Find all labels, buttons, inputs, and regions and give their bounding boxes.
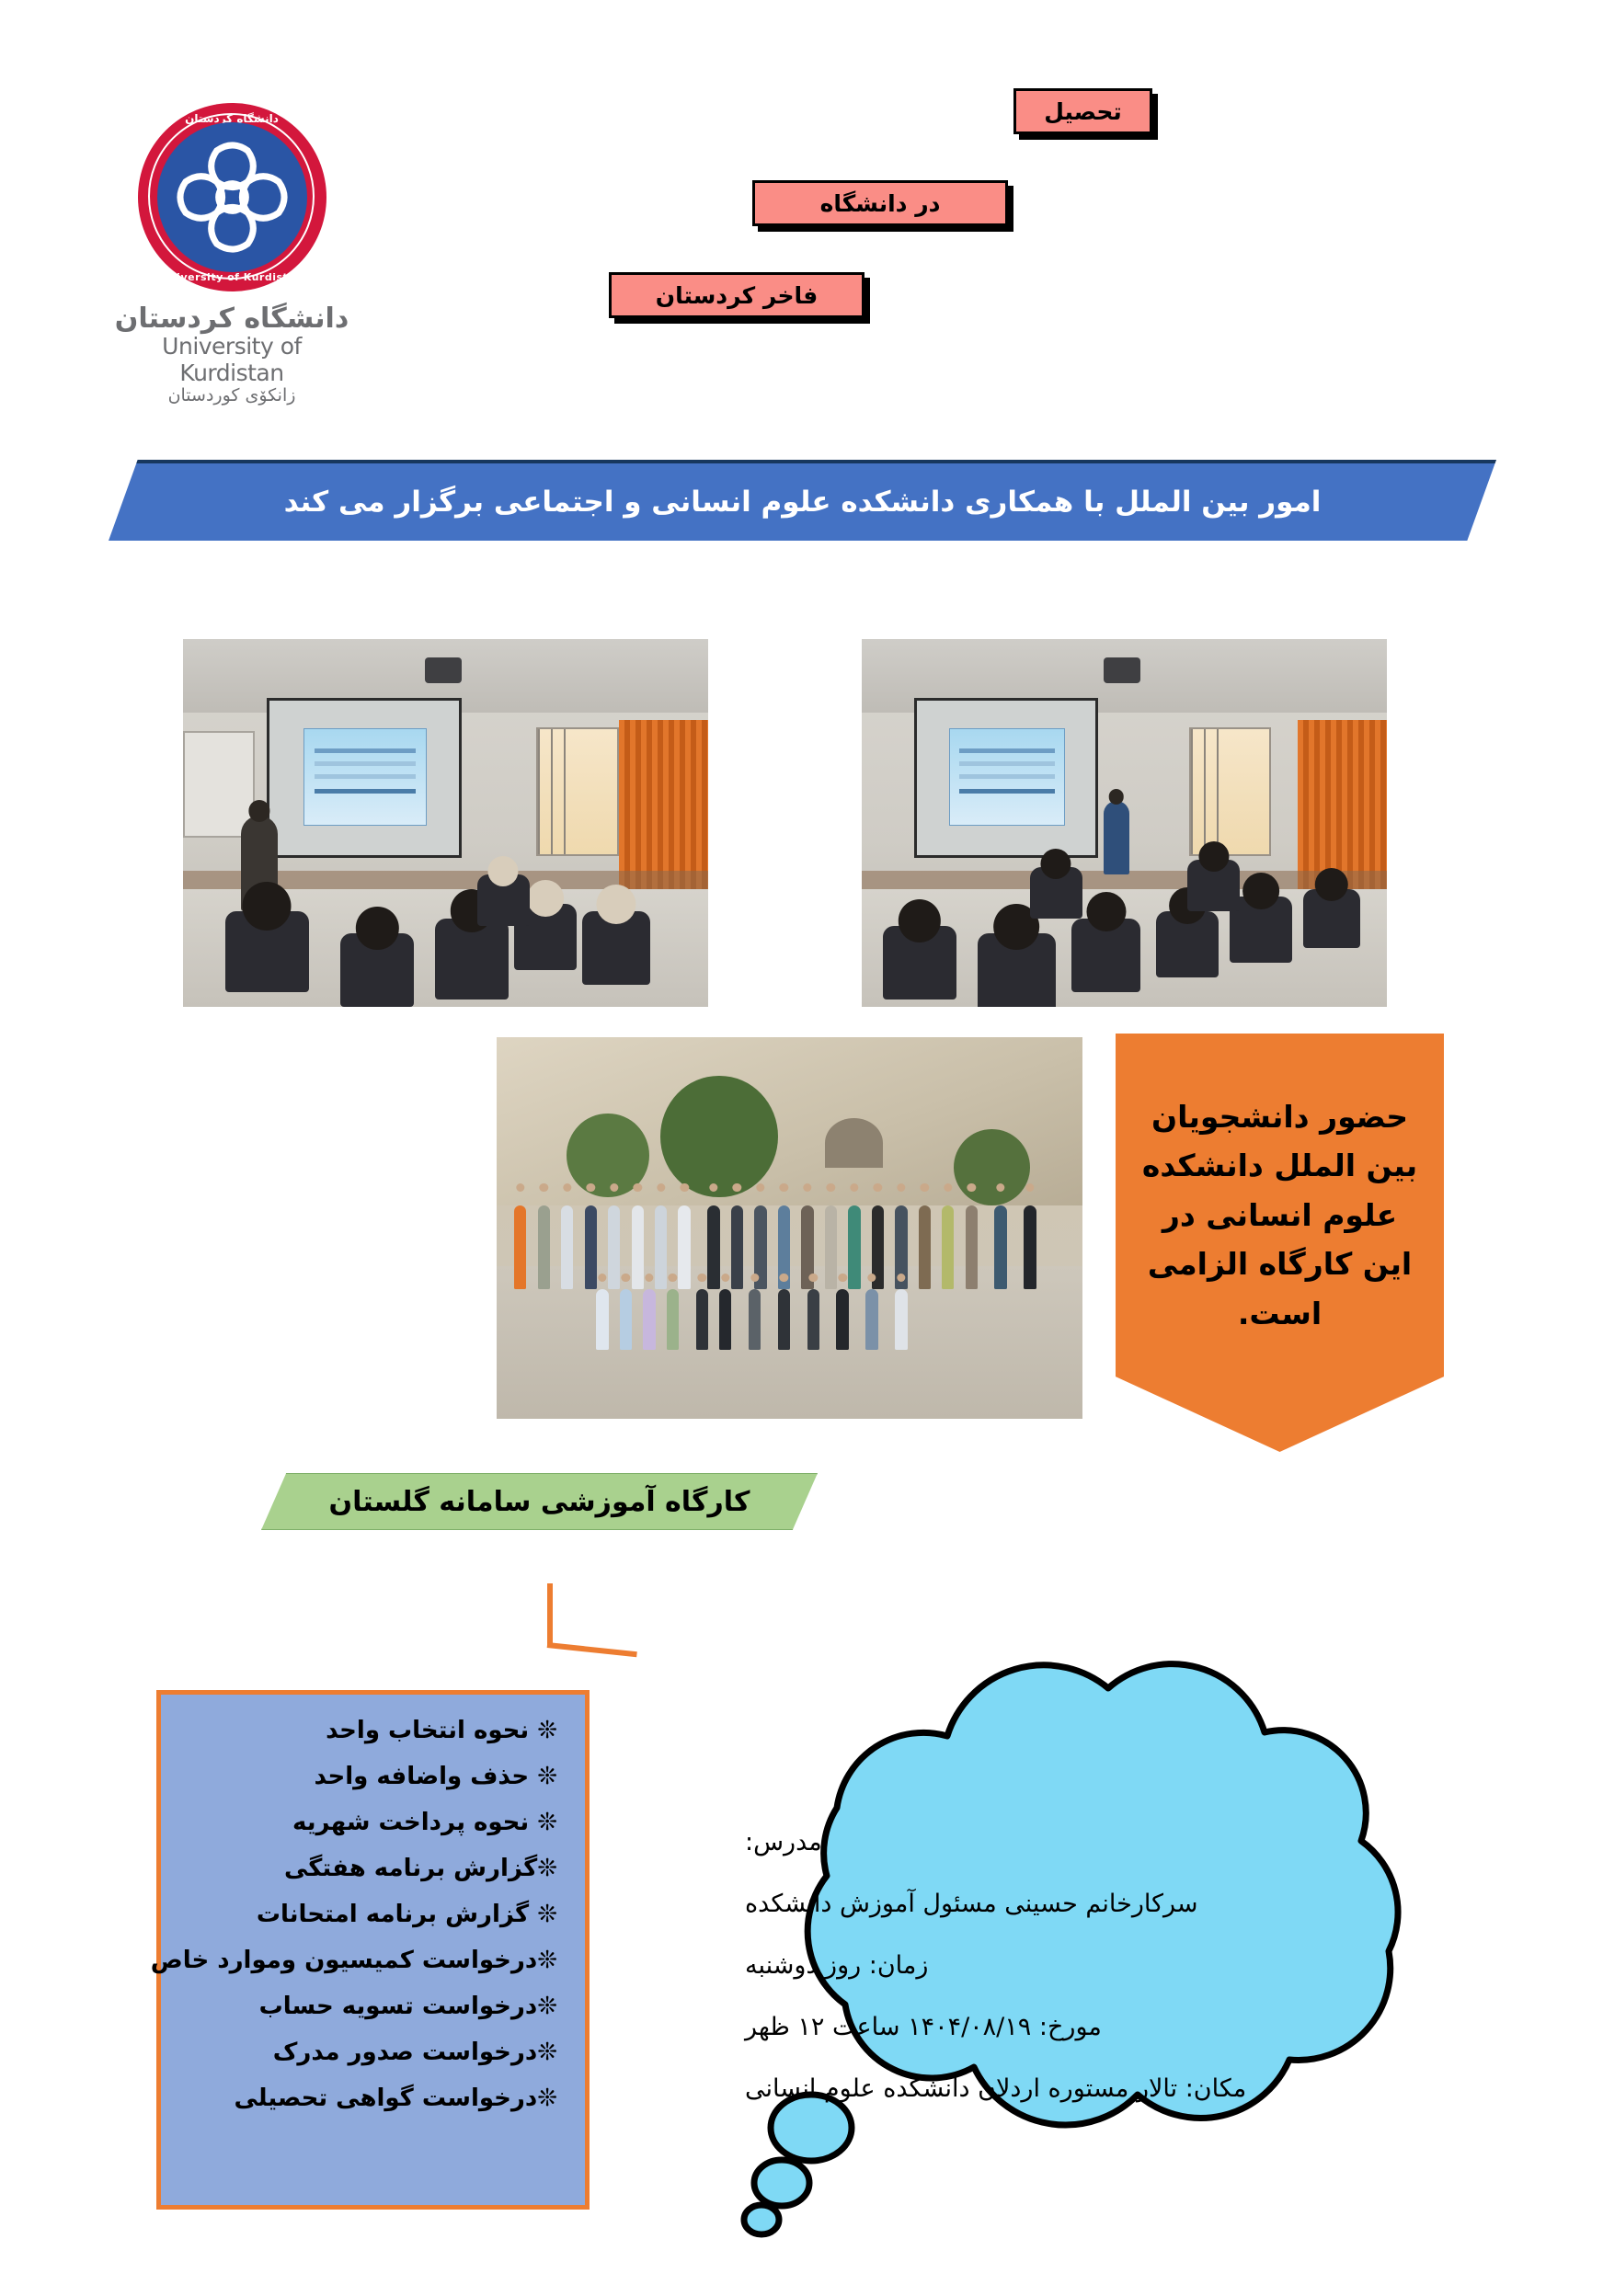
kurdish-knot-icon [173,138,292,257]
list-item: ❊درخواست صدور مدرک [176,2040,557,2064]
group-photo-scene [497,1037,1082,1419]
projection-screen [267,698,462,858]
audience-figure [1030,867,1082,919]
mandatory-attendance-callout: حضور دانشجویان بین الملل دانشکده علوم ان… [1116,1034,1444,1452]
tree [660,1076,777,1198]
university-logo-block: دانشگاه کردستان University of Kurdistan … [109,103,355,406]
projected-slide [949,728,1065,826]
list-item: ❊درخواست تسویه حساب [176,1994,557,2018]
tagline-box-1-label: تحصیل [1044,98,1122,125]
group-member [848,1205,860,1289]
audience-figure [435,919,509,1000]
workshop-title-text: کارگاه آموزشی سامانه گلستان [329,1486,750,1518]
presenter-figure [1104,801,1130,874]
tagline-box-2-label: در دانشگاه [820,190,941,217]
projection-screen [914,698,1098,858]
group-member [731,1205,743,1289]
photo-international-students-group [497,1037,1082,1419]
poster-canvas: دانشگاه کردستان University of Kurdistan … [0,0,1603,2296]
group-member [895,1289,907,1350]
university-seal-icon: دانشگاه کردستان University of Kurdistan [138,103,326,291]
photo-classroom-session-left [183,639,708,1007]
group-member [778,1289,790,1350]
group-member [632,1205,644,1289]
group-member [643,1289,655,1350]
group-member [667,1289,679,1350]
group-member [585,1205,597,1289]
seal-ring-text-en: University of Kurdistan [138,271,326,283]
list-item: ❊ حذف واضافه واحد [176,1765,557,1788]
connector-line-vertical [547,1583,553,1646]
instructor-name: سرکارخانم حسینی مسئول آموزش دانشکده [745,1891,1370,1916]
projected-slide [303,728,427,826]
tagline-box-2: در دانشگاه [752,180,1008,226]
audience-figure [883,926,956,1000]
group-member [966,1205,978,1289]
list-item: ❊درخواست کمیسیون وموارد خاص [176,1948,557,1972]
audience-figure [340,933,414,1007]
connector-line-horizontal [547,1642,637,1657]
group-member [608,1205,620,1289]
group-member [825,1205,837,1289]
audience-figure [1156,911,1219,977]
projector-icon [1104,657,1140,683]
audience-figure [582,911,650,985]
event-details-cloud: مدرس: سرکارخانم حسینی مسئول آموزش دانشکد… [607,1661,1435,2249]
event-date: مورخ: ۱۴۰۴/۰۸/۱۹ ساعت ۱۲ ظهر [745,2015,1370,2039]
list-item: ❊ نحوه پرداخت شهریه [176,1811,557,1834]
list-item: ❊ گزارش برنامه امتحانات [176,1902,557,1926]
group-member [719,1289,731,1350]
window [1189,727,1272,856]
group-member [1024,1205,1036,1289]
group-member [836,1289,848,1350]
audience-figure [225,911,309,992]
group-member [707,1205,719,1289]
list-item: ❊گزارش برنامه هفتگی [176,1856,557,1880]
organizer-banner-text: امور بین الملل با همکاری دانشکده علوم ان… [284,485,1322,519]
audience-figure [1303,889,1361,948]
window [536,727,619,856]
audience-figure [1187,860,1240,911]
group-member [994,1205,1006,1289]
tree [954,1129,1030,1205]
audience-figure [1071,919,1139,992]
group-member [919,1205,931,1289]
logo-name-persian: دانشگاه کردستان [109,303,355,335]
workshop-title-banner: کارگاه آموزشی سامانه گلستان [261,1473,818,1530]
tagline-box-3-label: فاخر کردستان [656,282,818,309]
curtain [619,720,708,889]
projector-icon [425,657,462,683]
group-member [807,1289,819,1350]
group-member [561,1205,573,1289]
event-time: زمان: روز دوشنبه [745,1953,1370,1978]
group-member [596,1289,608,1350]
list-item: ❊درخواست گواهی تحصیلی [176,2086,557,2110]
tagline-box-1: تحصیل [1013,88,1152,134]
group-member [620,1289,632,1350]
workshop-topics-box: ❊ نحوه انتخاب واحد ❊ حذف واضافه واحد ❊ ن… [156,1690,590,2210]
instructor-label: مدرس: [745,1830,1370,1855]
audience-figure [477,874,530,926]
curtain [1298,720,1387,889]
group-member [538,1205,550,1289]
photo-classroom-session-right [862,639,1387,1007]
group-member [655,1205,667,1289]
group-member [678,1205,690,1289]
classroom-scene [183,639,708,1007]
event-location: مکان: تالار مستوره اردلان دانشکده علوم ا… [745,2076,1370,2101]
audience-figure [978,933,1057,1007]
mandatory-attendance-text: حضور دانشجویان بین الملل دانشکده علوم ان… [1139,1092,1421,1338]
group-member [514,1205,526,1289]
group-member [942,1205,954,1289]
group-member [865,1289,877,1350]
classroom-scene [862,639,1387,1007]
group-member [749,1289,761,1350]
logo-name-kurdish: زانکۆی کوردستان [109,385,355,406]
logo-name-english: University of Kurdistan [109,333,355,386]
organizer-banner: امور بین الملل با همکاری دانشکده علوم ان… [109,460,1496,541]
tagline-box-3: فاخر کردستان [609,272,864,318]
event-details-text-block: مدرس: سرکارخانم حسینی مسئول آموزش دانشکد… [745,1830,1370,2138]
group-member [696,1289,708,1350]
list-item: ❊ نحوه انتخاب واحد [176,1719,557,1742]
